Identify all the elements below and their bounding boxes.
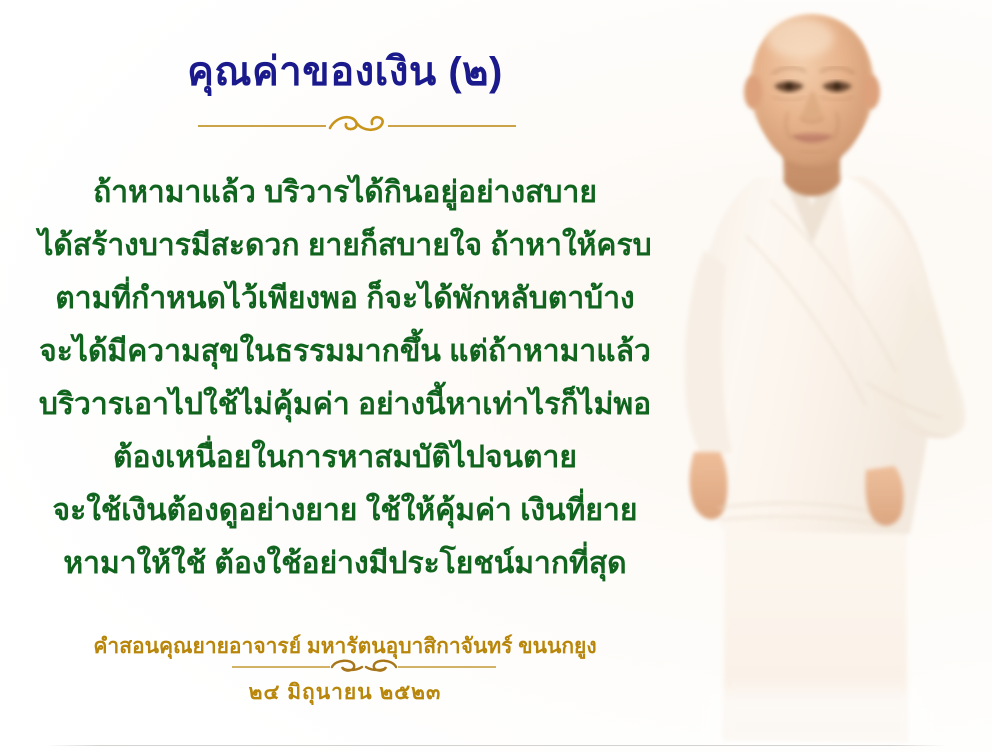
verse-line: จะได้มีความสุขในธรรมมากขึ้น แต่ถ้าหามาแล… bbox=[0, 325, 690, 378]
verse-line: หามาให้ใช้ ต้องใช้อย่างมีประโยชน์มากที่ส… bbox=[0, 537, 690, 590]
verse-line: ต้องเหนื่อยในการหาสมบัติไปจนตาย bbox=[0, 431, 690, 484]
slide-canvas: คุณค่าของเงิน (๒) ถ้าหามาแล้ว บริวารได้ก… bbox=[0, 0, 992, 752]
text-column: คุณค่าของเงิน (๒) ถ้าหามาแล้ว บริวารได้ก… bbox=[0, 0, 690, 752]
swirl-divider-icon bbox=[198, 112, 516, 136]
verse-line: ถ้าหามาแล้ว บริวารได้กินอยู่อย่างสบาย bbox=[0, 166, 690, 219]
verse-line: จะใช้เงินต้องดูอย่างยาย ใช้ให้คุ้มค่า เง… bbox=[0, 484, 690, 537]
portrait-of-elderly-nun bbox=[660, 0, 992, 752]
attribution-date: ๒๔ มิถุนายน ๒๕๒๓ bbox=[0, 676, 690, 709]
bottom-hairline bbox=[46, 745, 946, 746]
double-scroll-divider-icon bbox=[232, 658, 496, 678]
verse-line: ตามที่กำหนดไว้เพียงพอ ก็จะได้พักหลับตาบ้… bbox=[0, 272, 690, 325]
verse-line: ได้สร้างบารมีสะดวก ยายก็สบายใจ ถ้าหาให้ค… bbox=[0, 219, 690, 272]
verse-body: ถ้าหามาแล้ว บริวารได้กินอยู่อย่างสบาย ได… bbox=[0, 166, 690, 590]
page-title: คุณค่าของเงิน (๒) bbox=[0, 50, 690, 94]
verse-line: บริวารเอาไปใช้ไม่คุ้มค่า อย่างนี้หาเท่าไ… bbox=[0, 378, 690, 431]
